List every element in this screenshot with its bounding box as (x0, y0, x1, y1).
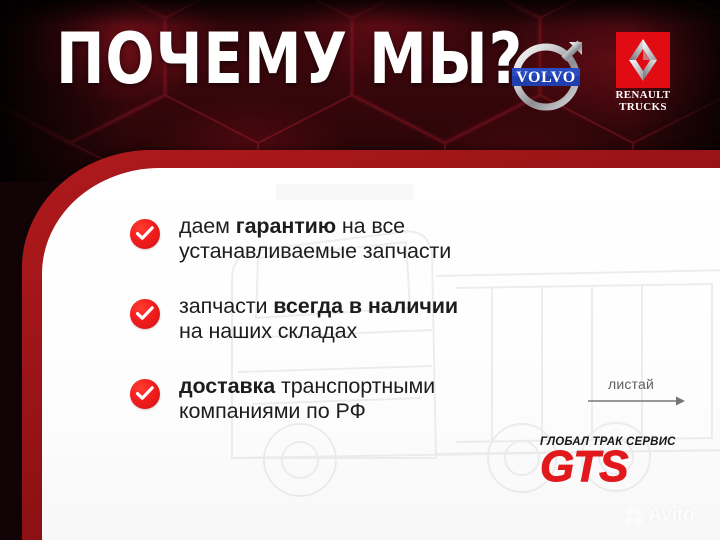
swipe-label: листай (588, 376, 674, 392)
avito-dots-icon (624, 506, 644, 526)
benefit-line1: доставка транспортными (179, 374, 435, 398)
text-post: на все (336, 214, 405, 238)
renault-trucks-logo: RENAULT TRUCKS (608, 32, 678, 116)
list-item: доставка транспортными компаниями по РФ (130, 374, 650, 424)
gts-logo: ГЛОБАЛ ТРАК СЕРВИС GTS (540, 436, 690, 492)
text-pre: запчасти (179, 294, 273, 318)
benefit-line2: компаниями по РФ (179, 399, 366, 423)
benefit-line2: на наших складах (179, 319, 357, 343)
text-bold: гарантию (236, 214, 336, 238)
avito-label: Avito (648, 504, 694, 527)
renault-word: RENAULT (608, 90, 678, 102)
text-bold: всегда в наличии (273, 294, 458, 318)
swipe-hint: листай (588, 376, 688, 392)
arrow-right-icon (588, 395, 688, 407)
benefit-line1: запчасти всегда в наличии (179, 294, 458, 318)
list-item: даем гарантию на все устанавливаемые зап… (130, 214, 650, 264)
text-post: транспортными (275, 374, 435, 398)
benefits-list: даем гарантию на все устанавливаемые зап… (130, 214, 650, 454)
renault-red-square (616, 32, 670, 88)
renault-trucks-wordmark: RENAULT TRUCKS (608, 90, 678, 113)
benefit-line2: устанавливаемые запчасти (179, 239, 451, 263)
trucks-word: TRUCKS (608, 102, 678, 114)
avito-watermark: Avito (624, 504, 694, 527)
text-pre: даем (179, 214, 236, 238)
text-pre: компаниями по РФ (179, 399, 366, 423)
text-bold: доставка (179, 374, 275, 398)
check-circle-icon (130, 379, 160, 409)
benefit-text: запчасти всегда в наличии на наших склад… (179, 294, 458, 344)
benefit-line1: даем гарантию на все (179, 214, 405, 238)
list-item: запчасти всегда в наличии на наших склад… (130, 294, 650, 344)
volvo-wordmark: VOLVO (516, 69, 576, 86)
ad-creative: ПОЧЕМУ МЫ? VOLVO (0, 0, 720, 540)
text-pre: на наших складах (179, 319, 357, 343)
text-pre: устанавливаемые запчасти (179, 239, 451, 263)
page-title: ПОЧЕМУ МЫ? (56, 24, 523, 94)
volvo-logo: VOLVO (508, 32, 590, 114)
benefit-text: доставка транспортными компаниями по РФ (179, 374, 435, 424)
benefit-text: даем гарантию на все устанавливаемые зап… (179, 214, 451, 264)
check-circle-icon (130, 299, 160, 329)
gts-wordmark: GTS (540, 446, 690, 488)
check-circle-icon (130, 219, 160, 249)
